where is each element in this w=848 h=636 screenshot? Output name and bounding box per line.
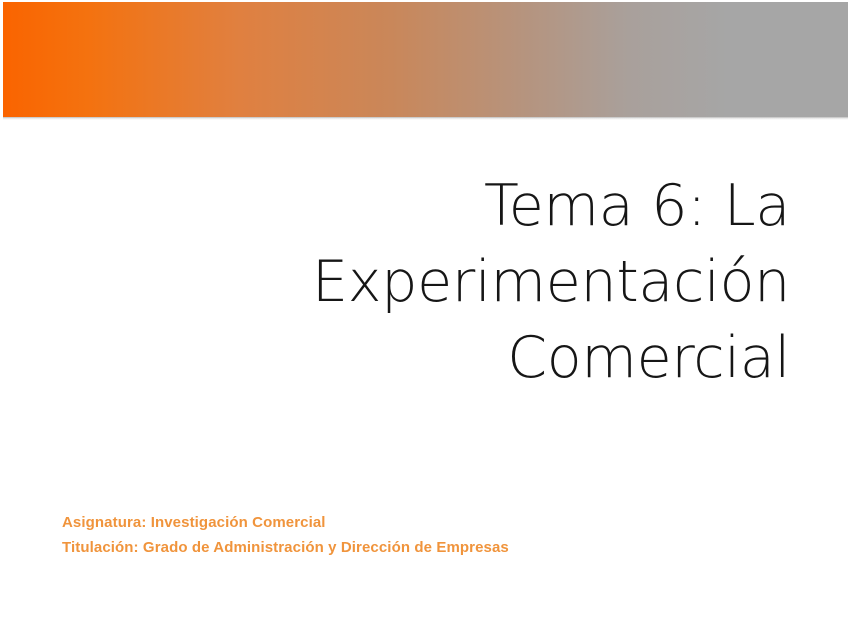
subtitle-course-line: Asignatura: Investigación Comercial [62, 510, 509, 535]
title-line-2: Experimentación [90, 244, 790, 320]
title-line-1: Tema 6: La [90, 168, 790, 244]
header-gradient-banner [3, 2, 848, 117]
title-slide: Tema 6: La Experimentación Comercial Asi… [0, 0, 848, 636]
subtitle-degree-line: Titulación: Grado de Administración y Di… [62, 535, 509, 560]
subtitle-block: Asignatura: Investigación Comercial Titu… [62, 510, 509, 560]
page-title: Tema 6: La Experimentación Comercial [90, 168, 790, 396]
header-banner-shadow [3, 117, 848, 120]
title-line-3: Comercial [90, 320, 790, 396]
